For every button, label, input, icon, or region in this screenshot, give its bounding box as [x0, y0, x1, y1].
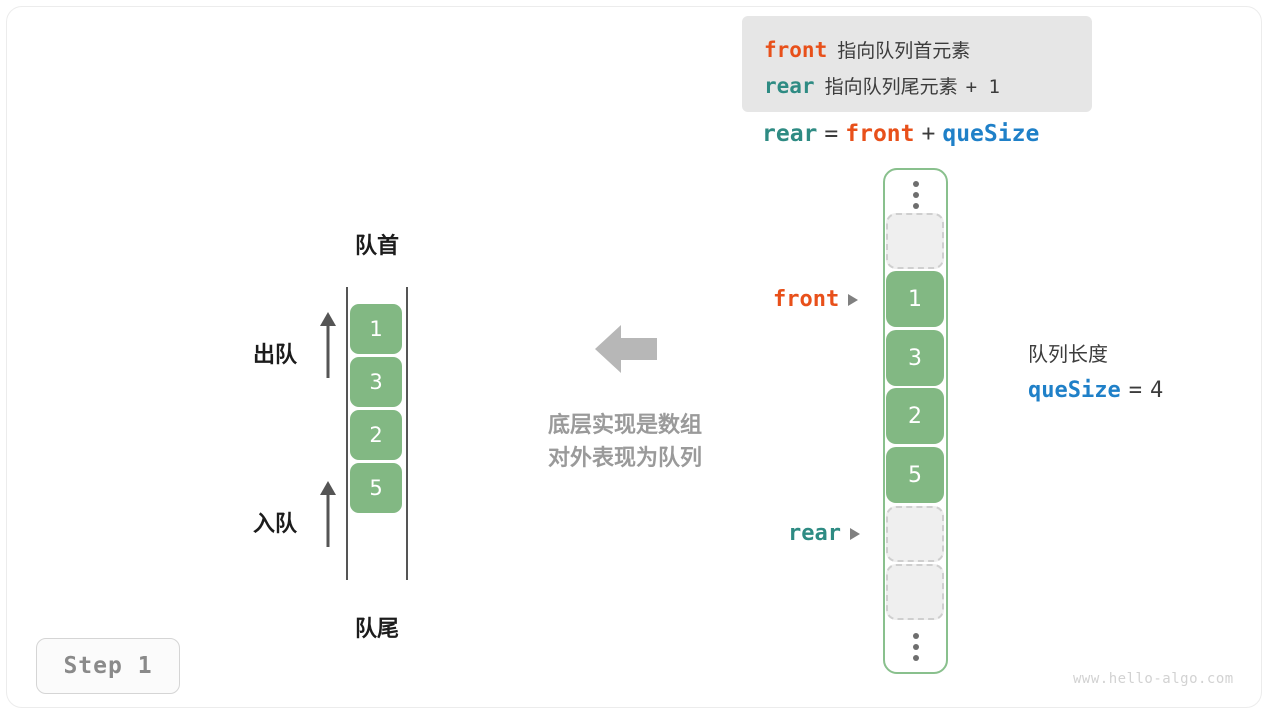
- array-slot-filled: 3: [886, 330, 944, 386]
- legend-key-rear: rear: [764, 74, 815, 98]
- formula-plus: +: [922, 121, 936, 147]
- watermark: www.hello-algo.com: [1073, 671, 1234, 687]
- front-pointer-label: front: [773, 287, 858, 312]
- diagram-canvas: front指向队列首元素 rear指向队列尾元素+ 1 rear=front+q…: [0, 0, 1280, 720]
- legend-suffix-rear: + 1: [966, 76, 1000, 98]
- quesize-equals: =: [1129, 378, 1142, 403]
- queue-cell: 2: [350, 410, 402, 460]
- array-slot-filled: 5: [886, 447, 944, 503]
- queue-cell: 3: [350, 357, 402, 407]
- legend-desc-rear: 指向队列尾元素: [825, 76, 958, 98]
- arrow-left-icon: [591, 318, 661, 380]
- queue-rail-left: [346, 287, 348, 580]
- quesize-note: 队列长度 queSize=4: [1028, 342, 1163, 403]
- formula-front: front: [845, 121, 914, 147]
- step-badge-label: Step 1: [63, 653, 152, 679]
- quesize-note-title: 队列长度: [1028, 342, 1163, 366]
- arrow-right-icon: [850, 528, 860, 540]
- array-slot-filled: 2: [886, 388, 944, 444]
- formula-equals: =: [824, 121, 838, 147]
- rear-formula: rear=front+queSize: [762, 120, 1039, 147]
- array-slot-empty: [886, 564, 944, 620]
- center-caption-line1: 底层实现是数组: [512, 409, 738, 442]
- center-caption: 底层实现是数组 对外表现为队列: [512, 409, 738, 475]
- rear-pointer-label: rear: [788, 521, 860, 546]
- legend-line-rear: rear指向队列尾元素+ 1: [764, 76, 1000, 97]
- quesize-name: queSize: [1028, 378, 1121, 403]
- formula-quesize: queSize: [942, 121, 1039, 147]
- queue-cell: 1: [350, 304, 402, 354]
- array-slot-filled: 1: [886, 271, 944, 327]
- array-slot-empty: [886, 213, 944, 269]
- dequeue-arrow-up-icon: [310, 310, 346, 380]
- quesize-note-expression: queSize=4: [1028, 378, 1163, 403]
- enqueue-arrow-up-icon: [310, 479, 346, 549]
- center-caption-line2: 对外表现为队列: [512, 442, 738, 475]
- dequeue-label: 出队: [253, 337, 297, 369]
- enqueue-label: 入队: [253, 506, 297, 538]
- queue-tail-label: 队尾: [297, 611, 457, 643]
- pointer-legend-box: front指向队列首元素 rear指向队列尾元素+ 1: [742, 16, 1092, 112]
- ellipsis-vertical-icon: [908, 633, 923, 661]
- legend-key-front: front: [764, 38, 827, 62]
- legend-line-front: front指向队列首元素: [764, 40, 970, 61]
- arrow-right-icon: [848, 294, 858, 306]
- ellipsis-vertical-icon: [908, 181, 923, 209]
- front-pointer-text: front: [773, 287, 839, 312]
- formula-rear: rear: [762, 121, 817, 147]
- array-slot-empty: [886, 506, 944, 562]
- step-badge: Step 1: [36, 638, 180, 694]
- rear-pointer-text: rear: [788, 521, 841, 546]
- queue-rail-right: [406, 287, 408, 580]
- quesize-value: 4: [1150, 378, 1163, 403]
- queue-head-label: 队首: [297, 228, 457, 260]
- legend-desc-front: 指向队列首元素: [837, 40, 970, 62]
- queue-cell: 5: [350, 463, 402, 513]
